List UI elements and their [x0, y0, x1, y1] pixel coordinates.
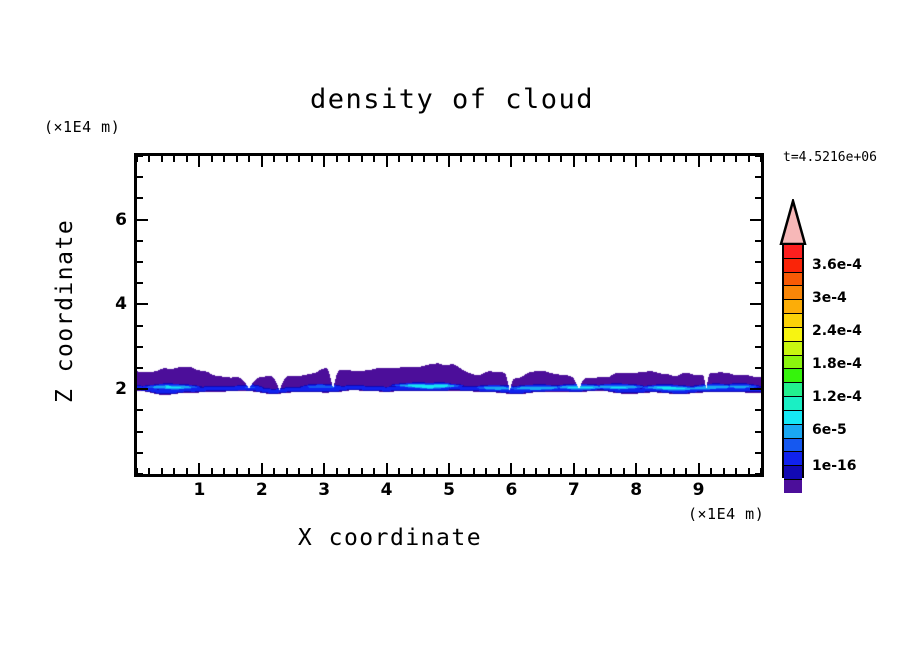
colorbar-tick-label: 6e-5 [812, 422, 847, 438]
colorbar-band [784, 342, 802, 356]
colorbar-band [784, 425, 802, 439]
x-tick-label: 4 [381, 480, 393, 500]
colorbar-tick-label: 1.2e-4 [812, 389, 862, 405]
y-tick-label: 6 [101, 210, 127, 230]
x-tick-label: 8 [630, 480, 642, 500]
y-axis-unit-label: (×1E4 m) [44, 118, 120, 136]
colorbar-band [784, 328, 802, 342]
colorbar-band [784, 383, 802, 397]
colorbar-tick-label: 2.4e-4 [812, 323, 862, 339]
plot-frame [134, 153, 764, 477]
colorbar [782, 243, 804, 478]
y-axis-title: Z coordinate [52, 223, 78, 403]
colorbar-over-arrow [779, 199, 807, 245]
x-tick-label: 5 [443, 480, 455, 500]
plot-area [137, 156, 761, 474]
colorbar-band [784, 466, 802, 480]
colorbar-band [784, 439, 802, 453]
x-axis-unit-label: (×1E4 m) [688, 505, 764, 523]
x-tick-label: 7 [568, 480, 580, 500]
y-tick-label: 4 [101, 294, 127, 314]
colorbar-tick-label: 3.6e-4 [812, 257, 862, 273]
colorbar-band [784, 314, 802, 328]
x-tick-label: 6 [505, 480, 517, 500]
timestamp-label: t=4.5216e+06 [783, 150, 877, 165]
x-tick-label: 1 [193, 480, 205, 500]
chart-title: density of cloud [0, 84, 904, 115]
colorbar-band [784, 356, 802, 370]
cloud-density-field [137, 156, 761, 474]
x-tick-label: 9 [693, 480, 705, 500]
colorbar-tick-label: 1.8e-4 [812, 356, 862, 372]
colorbar-band [784, 452, 802, 466]
colorbar-band [784, 245, 802, 259]
colorbar-band [784, 480, 802, 493]
x-axis-title: X coordinate [0, 525, 780, 551]
colorbar-tick-label: 3e-4 [812, 290, 847, 306]
x-tick-label: 3 [318, 480, 330, 500]
colorbar-band [784, 259, 802, 273]
x-tick-label: 2 [256, 480, 268, 500]
colorbar-band [784, 286, 802, 300]
colorbar-band [784, 300, 802, 314]
colorbar-band [784, 273, 802, 287]
colorbar-band [784, 369, 802, 383]
colorbar-band [784, 397, 802, 411]
colorbar-tick-label: 1e-16 [812, 458, 857, 474]
figure-canvas: density of cloud (×1E4 m) (×1E4 m) t=4.5… [0, 0, 904, 654]
y-tick-label: 2 [101, 379, 127, 399]
colorbar-band [784, 411, 802, 425]
